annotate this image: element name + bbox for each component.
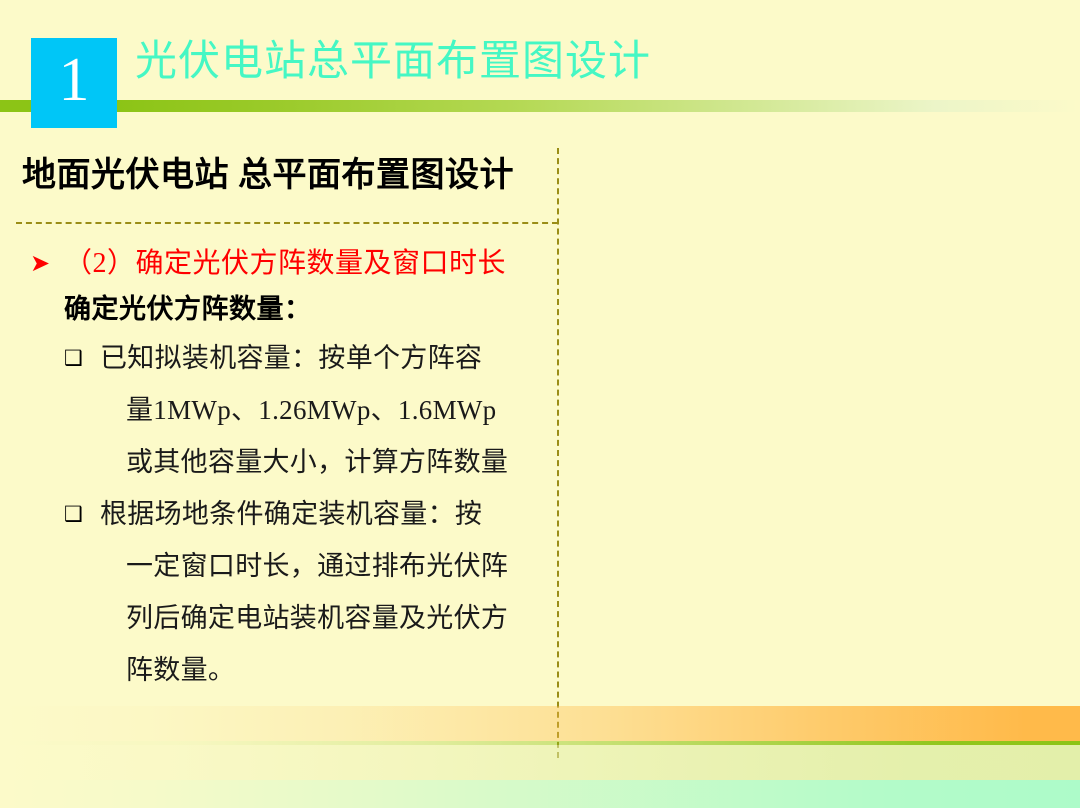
slide-header-title: 光伏电站总平面布置图设计 bbox=[135, 33, 651, 91]
footer-band-orange bbox=[0, 706, 1080, 741]
bullet-item-line: 已知拟装机容量：按单个方阵容 bbox=[100, 332, 550, 384]
bullet-item-line: 根据场地条件确定装机容量：按 bbox=[100, 488, 550, 540]
hollow-square-icon: ❑ bbox=[64, 332, 100, 384]
bullet-item-line: 阵数量。 bbox=[100, 644, 550, 696]
hollow-square-icon: ❑ bbox=[64, 488, 100, 540]
footer-band-mint bbox=[0, 780, 1080, 808]
header-accent-bar-right bbox=[117, 100, 1080, 112]
header-accent-bar-left bbox=[0, 100, 33, 112]
bullet-list: ➤ （2）确定光伏方阵数量及窗口时长 确定光伏方阵数量： ❑ 已知拟装机容量：按… bbox=[30, 242, 550, 696]
slide-header: 1 光伏电站总平面布置图设计 bbox=[0, 0, 1080, 130]
bullet-item-line: 量1MWp、1.26MWp、1.6MWp bbox=[100, 384, 550, 436]
section-title: 地面光伏电站 总平面布置图设计 bbox=[22, 152, 514, 200]
bullet-level2-label: 确定光伏方阵数量： bbox=[64, 286, 550, 332]
bullet-level1: ➤ （2）确定光伏方阵数量及窗口时长 bbox=[30, 242, 550, 286]
bullet-item-body: 已知拟装机容量：按单个方阵容 量1MWp、1.26MWp、1.6MWp 或其他容… bbox=[100, 332, 550, 488]
vertical-dashed-divider bbox=[557, 148, 559, 758]
slide-content: 地面光伏电站 总平面布置图设计 ➤ （2）确定光伏方阵数量及窗口时长 确定光伏方… bbox=[0, 130, 1080, 710]
bullet-item-line: 列后确定电站装机容量及光伏方 bbox=[100, 592, 550, 644]
section-number-text: 1 bbox=[59, 49, 90, 117]
slide: 1 光伏电站总平面布置图设计 地面光伏电站 总平面布置图设计 ➤ （2）确定光伏… bbox=[0, 0, 1080, 808]
horizontal-dashed-divider bbox=[16, 222, 558, 224]
bullet-item: ❑ 已知拟装机容量：按单个方阵容 量1MWp、1.26MWp、1.6MWp 或其… bbox=[64, 332, 550, 488]
bullet-level1-label: （2）确定光伏方阵数量及窗口时长 bbox=[64, 242, 506, 286]
bullet-item: ❑ 根据场地条件确定装机容量：按 一定窗口时长，通过排布光伏阵 列后确定电站装机… bbox=[64, 488, 550, 696]
section-number-badge: 1 bbox=[31, 38, 117, 128]
bullet-item-line: 或其他容量大小，计算方阵数量 bbox=[100, 436, 550, 488]
bullet-item-body: 根据场地条件确定装机容量：按 一定窗口时长，通过排布光伏阵 列后确定电站装机容量… bbox=[100, 488, 550, 696]
arrow-right-icon: ➤ bbox=[30, 242, 64, 286]
footer-band-yellow-green bbox=[0, 745, 1080, 780]
bullet-item-line: 一定窗口时长，通过排布光伏阵 bbox=[100, 540, 550, 592]
